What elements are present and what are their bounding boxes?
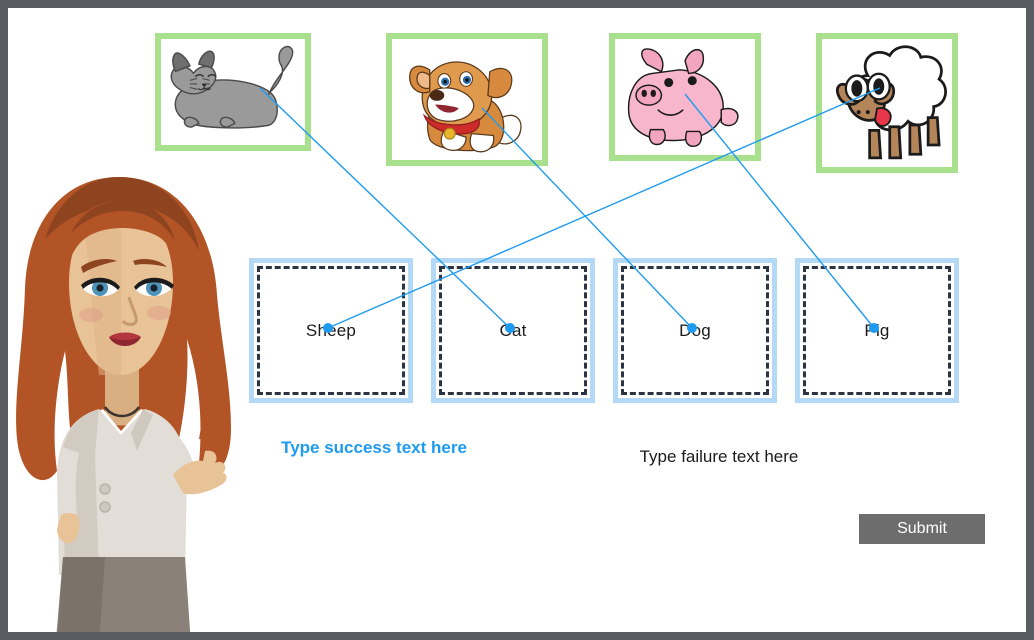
success-text-placeholder[interactable]: Type success text here — [281, 437, 467, 459]
pig-illustration — [615, 39, 755, 155]
sheep-illustration — [822, 39, 952, 167]
cat-illustration — [161, 39, 305, 145]
cat-picture[interactable] — [155, 33, 311, 151]
dog-picture[interactable] — [386, 33, 548, 166]
dropzone-pig[interactable]: Pig — [795, 258, 959, 403]
submit-button[interactable]: Submit — [859, 514, 985, 544]
dog-illustration — [392, 39, 542, 160]
dropzone-label-sheep: Sheep — [254, 321, 408, 341]
dropzone-label-dog: Dog — [618, 321, 772, 341]
screen-root: Sheep Cat Dog Pig Type success text here… — [0, 0, 1034, 640]
dropzone-label-pig: Pig — [800, 321, 954, 341]
sheep-picture[interactable] — [816, 33, 958, 173]
presenter-avatar — [8, 171, 237, 632]
dropzone-sheep[interactable]: Sheep — [249, 258, 413, 403]
dropzone-dog[interactable]: Dog — [613, 258, 777, 403]
dropzone-label-cat: Cat — [436, 321, 590, 341]
pig-picture[interactable] — [609, 33, 761, 161]
slide-canvas: Sheep Cat Dog Pig Type success text here… — [8, 8, 1026, 632]
dropzone-cat[interactable]: Cat — [431, 258, 595, 403]
failure-text-placeholder[interactable]: Type failure text here — [586, 446, 852, 468]
